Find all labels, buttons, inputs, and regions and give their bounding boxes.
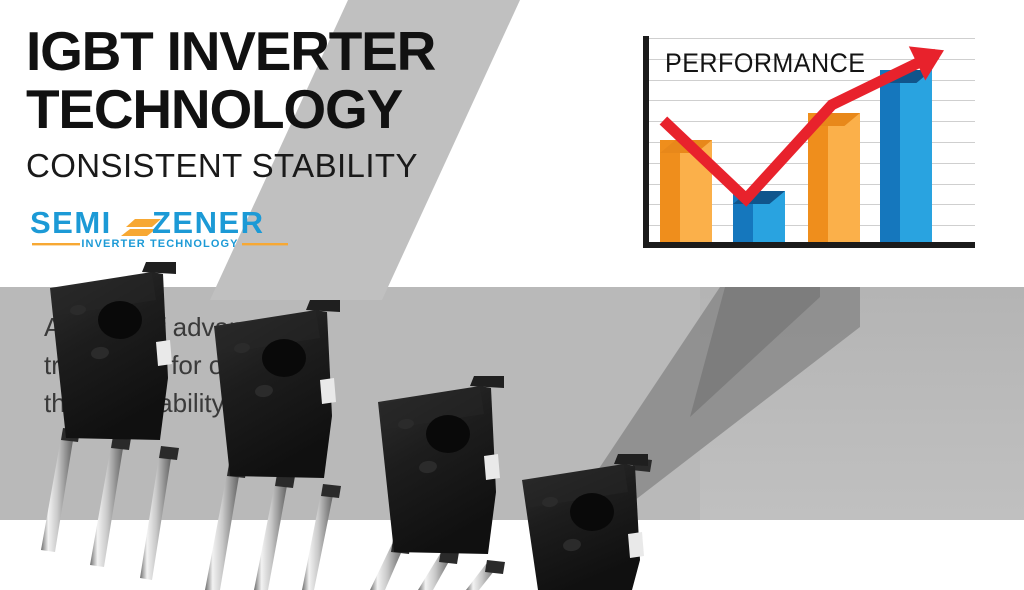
headline-line-1: IGBT INVERTER [26,22,496,80]
transistor-3 [370,376,505,590]
logo-rule-right [242,243,288,245]
subheadline: CONSISTENT STABILITY [26,147,496,185]
chart-inner: PERFORMANCE [627,24,987,260]
transistor-group [0,260,1024,590]
performance-chart: PERFORMANCE [627,24,987,260]
svg-text:INVERTER TECHNOLOGY: INVERTER TECHNOLOGY [81,238,238,250]
headline-block: IGBT INVERTER TECHNOLOGY CONSISTENT STAB… [26,22,496,185]
logo-rule-left [32,243,80,245]
logo-artwork: SEMI ZENER INVERTER TECHNOLOGY [30,205,290,251]
chart-title: PERFORMANCE [665,48,865,79]
svg-text:SEMI: SEMI [30,205,112,240]
transistor-1 [41,262,179,580]
svg-text:ZENER: ZENER [152,205,265,240]
headline-line-2: TECHNOLOGY [26,80,496,138]
transistor-4 [522,454,652,590]
promo-banner: IGBT INVERTER TECHNOLOGY CONSISTENT STAB… [0,0,1024,590]
transistor-2 [205,300,341,590]
semi-zener-logo: SEMI ZENER INVERTER TECHNOLOGY [30,205,290,251]
logo-orange-slash-2 [121,229,156,236]
